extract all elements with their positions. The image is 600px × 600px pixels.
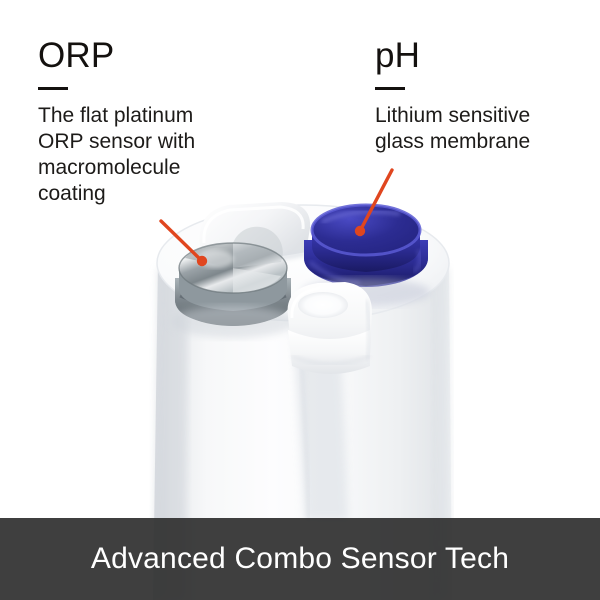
callout-orp-rule [38, 87, 68, 90]
callout-ph: pH Lithium sensitive glass membrane [375, 38, 580, 155]
callout-ph-body: Lithium sensitive glass membrane [375, 103, 580, 155]
callout-ph-title: pH [375, 38, 580, 73]
callout-orp-title: ORP [38, 38, 278, 73]
caption-bar: Advanced Combo Sensor Tech [0, 518, 600, 600]
callout-orp: ORP The flat platinum ORP sensor with ma… [38, 38, 278, 207]
caption-text: Advanced Combo Sensor Tech [91, 544, 509, 574]
callout-orp-body: The flat platinum ORP sensor with macrom… [38, 103, 278, 207]
guard-rib-front [288, 282, 372, 374]
callout-ph-rule [375, 87, 405, 90]
infographic-canvas: ORP The flat platinum ORP sensor with ma… [0, 0, 600, 600]
